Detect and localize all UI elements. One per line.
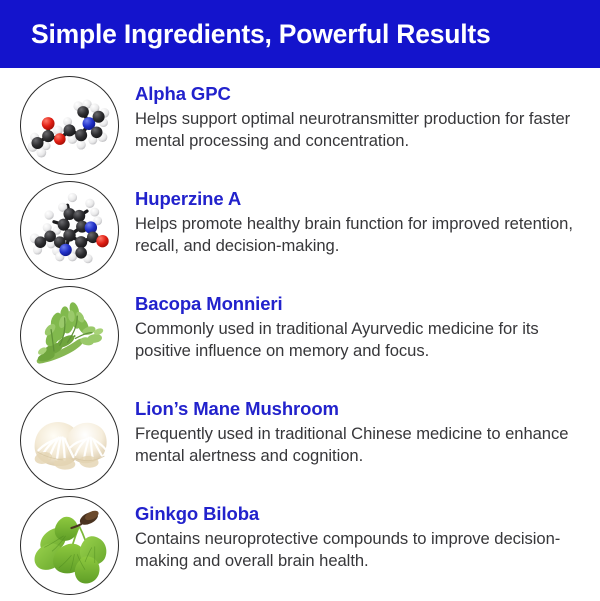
ingredient-name: Lion’s Mane Mushroom [135, 398, 583, 420]
huperzine-a-molecule-image [20, 181, 119, 280]
list-item: Bacopa Monnieri Commonly used in traditi… [0, 286, 600, 391]
ingredient-text-block: Huperzine A Helps promote healthy brain … [135, 181, 583, 258]
ingredient-name: Ginkgo Biloba [135, 503, 583, 525]
list-item: Huperzine A Helps promote healthy brain … [0, 181, 600, 286]
ingredient-text-block: Bacopa Monnieri Commonly used in traditi… [135, 286, 583, 363]
ingredient-description: Frequently used in traditional Chinese m… [135, 423, 583, 468]
ingredients-infographic: Simple Ingredients, Powerful Results [0, 0, 600, 600]
ingredient-name: Huperzine A [135, 188, 583, 210]
ginkgo-biloba-leaves-image [20, 496, 119, 595]
ingredient-description: Helps promote healthy brain function for… [135, 213, 583, 258]
list-item: Alpha GPC Helps support optimal neurotra… [0, 76, 600, 181]
bacopa-monnieri-herb-image [20, 286, 119, 385]
ingredient-description: Commonly used in traditional Ayurvedic m… [135, 318, 583, 363]
ingredient-text-block: Alpha GPC Helps support optimal neurotra… [135, 76, 583, 153]
ingredient-text-block: Ginkgo Biloba Contains neuroprotective c… [135, 496, 583, 573]
ingredient-list: Alpha GPC Helps support optimal neurotra… [0, 68, 600, 601]
ingredient-text-block: Lion’s Mane Mushroom Frequently used in … [135, 391, 583, 468]
page-title: Simple Ingredients, Powerful Results [31, 21, 491, 48]
list-item: Ginkgo Biloba Contains neuroprotective c… [0, 496, 600, 601]
alpha-gpc-molecule-image [20, 76, 119, 175]
list-item: Lion’s Mane Mushroom Frequently used in … [0, 391, 600, 496]
ingredient-name: Bacopa Monnieri [135, 293, 583, 315]
ingredient-description: Contains neuroprotective compounds to im… [135, 528, 583, 573]
header-banner: Simple Ingredients, Powerful Results [0, 0, 600, 68]
lions-mane-mushroom-image [20, 391, 119, 490]
ingredient-description: Helps support optimal neurotransmitter p… [135, 108, 583, 153]
ingredient-name: Alpha GPC [135, 83, 583, 105]
